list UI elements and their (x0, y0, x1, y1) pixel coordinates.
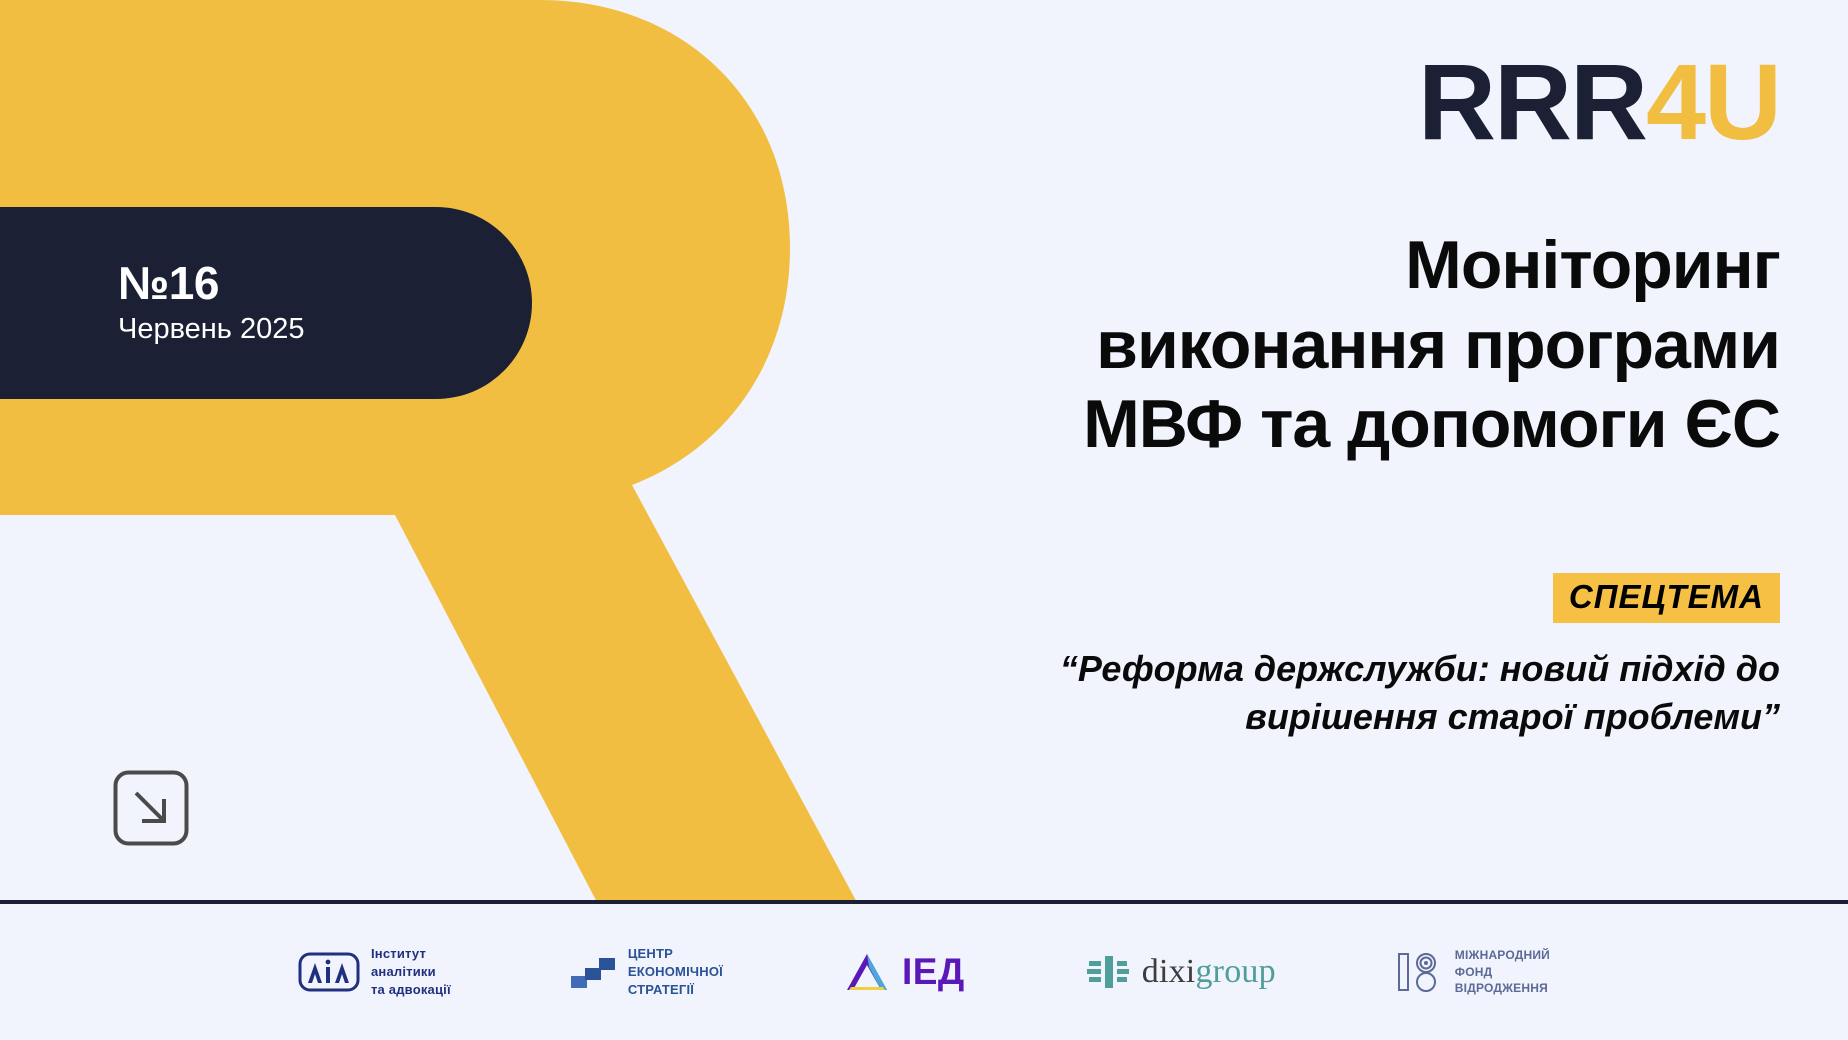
page-title-line-2: виконання програми (970, 306, 1780, 386)
partner-logo-ces-text: ЦЕНТР ЕКОНОМІЧНОЇ СТРАТЕГІЇ (628, 945, 723, 999)
partner-logo-irf-text: МІЖНАРОДНИЙ ФОНД ВІДРОДЖЕННЯ (1455, 947, 1550, 997)
special-topic-badge: СПЕЦТЕМА (1553, 573, 1780, 623)
ces-line-2: ЕКОНОМІЧНОЇ (628, 963, 723, 981)
partner-logo-aia-text: Інститут аналітики та адвокації (371, 945, 451, 999)
aia-mark-icon (298, 952, 360, 992)
brand-logo: RRR4U (970, 48, 1780, 156)
partner-logo-aia[interactable]: Інститут аналітики та адвокації (298, 945, 451, 999)
irf-line-2: ФОНД (1455, 964, 1550, 981)
issue-badge: №16 Червень 2025 (0, 207, 532, 399)
partner-logo-dixigroup[interactable]: dixigroup (1085, 949, 1276, 996)
brand-logo-primary: RRR (1418, 41, 1646, 162)
aia-line-2: аналітики (371, 963, 451, 981)
partner-logo-dixigroup-text: dixigroup (1142, 949, 1276, 996)
ied-triangle-icon (843, 950, 891, 994)
aia-line-3: та адвокації (371, 981, 451, 999)
partner-logo-bar: Інститут аналітики та адвокації ЦЕНТР ЕК… (0, 904, 1848, 1040)
page-title: Моніторинг виконання програми МВФ та доп… (970, 226, 1780, 465)
page-title-line-1: Моніторинг (970, 226, 1780, 306)
arrow-down-right-icon[interactable] (113, 770, 189, 846)
irf-mark-icon (1396, 951, 1444, 993)
ces-stairs-icon (571, 954, 617, 990)
special-topic-quote-line-2: вирішення старої проблеми” (970, 693, 1780, 741)
special-topic-quote: “Реформа держслужби: новий підхід до вир… (970, 645, 1780, 741)
content-column: RRR4U Моніторинг виконання програми МВФ … (970, 0, 1780, 741)
issue-date: Червень 2025 (118, 312, 532, 347)
dixigroup-part-2: group (1195, 953, 1275, 990)
special-topic-section: СПЕЦТЕМА “Реформа держслужби: новий підх… (970, 573, 1780, 741)
ces-line-3: СТРАТЕГІЇ (628, 981, 723, 999)
issue-number: №16 (118, 259, 532, 307)
partner-logo-ces[interactable]: ЦЕНТР ЕКОНОМІЧНОЇ СТРАТЕГІЇ (571, 945, 723, 999)
dixigroup-part-1: dixi (1142, 953, 1196, 990)
aia-line-1: Інститут (371, 945, 451, 963)
brand-logo-accent: 4U (1646, 41, 1780, 162)
cover-page: №16 Червень 2025 RRR4U Моніторинг викона… (0, 0, 1848, 1040)
ces-line-1: ЦЕНТР (628, 945, 723, 963)
partner-logo-irf[interactable]: МІЖНАРОДНИЙ ФОНД ВІДРОДЖЕННЯ (1396, 947, 1550, 997)
dixigroup-brain-icon (1085, 952, 1131, 992)
partner-logo-ied[interactable]: ІЕД (843, 946, 965, 997)
partner-logo-ied-text: ІЕД (902, 946, 965, 997)
page-title-line-3: МВФ та допомоги ЄС (970, 385, 1780, 465)
special-topic-quote-line-1: “Реформа держслужби: новий підхід до (970, 645, 1780, 693)
irf-line-3: ВІДРОДЖЕННЯ (1455, 980, 1550, 997)
irf-line-1: МІЖНАРОДНИЙ (1455, 947, 1550, 964)
